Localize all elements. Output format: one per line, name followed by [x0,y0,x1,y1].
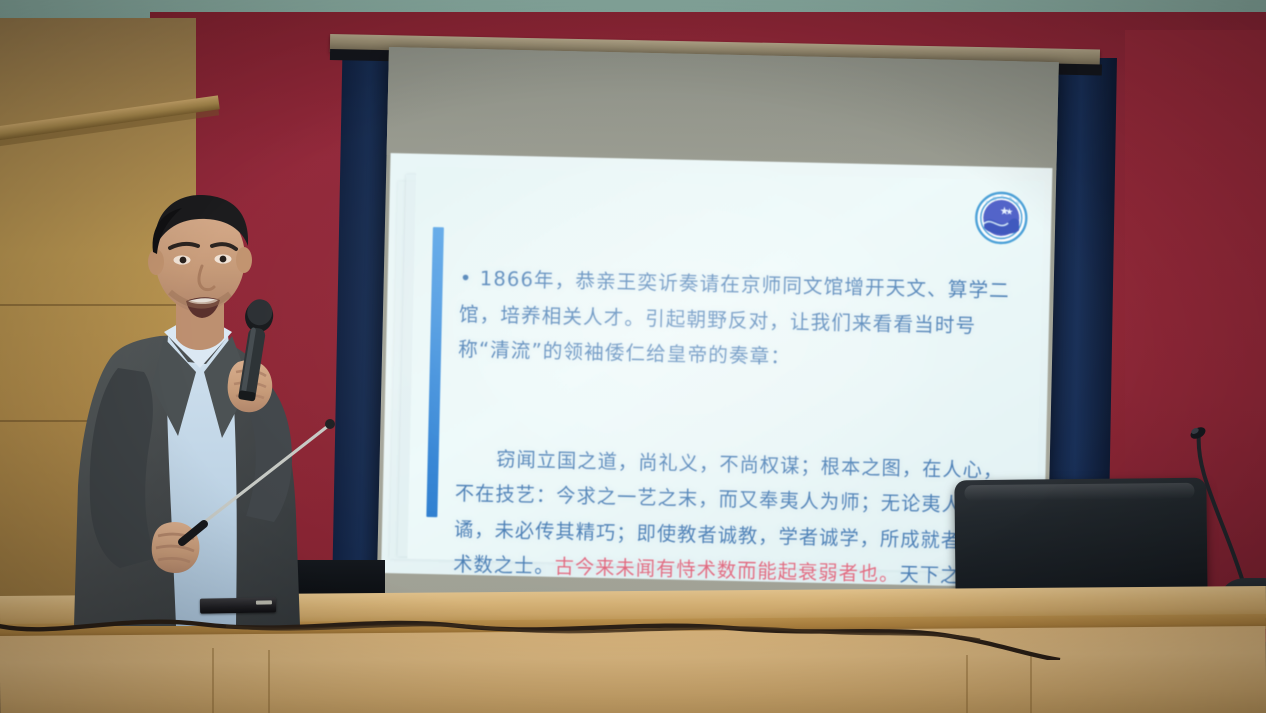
desk-panel-seam [1030,656,1032,713]
svg-text:象: 象 [1009,196,1013,201]
desk-panel-seam [212,648,214,713]
slide-bullet-glyph: • [460,267,473,290]
desk-panel-seam [966,655,968,713]
podium-desk-front [0,626,1266,713]
svg-text:气: 气 [1001,195,1005,200]
slide-bullet-paragraph: 1866年，恭亲王奕䜣奏请在京师同文馆增开天文、算学二馆，培养相关人才。引起朝野… [458,267,1010,368]
slide-content-card: 中国气 象局 • 1866年，恭亲王奕䜣奏请在京师同文馆增开天文、算学二馆，培养… [407,167,1044,573]
slide-text-block: • 1866年，恭亲王奕䜣奏请在京师同文馆增开天文、算学二馆，培养相关人才。引起… [450,190,1022,588]
slide-accent-bar [426,227,444,517]
svg-text:国: 国 [993,196,997,201]
lecture-hall-photo: 中国气 象局 • 1866年，恭亲王奕䜣奏请在京师同文馆增开天文、算学二馆，培养… [0,0,1266,713]
screen-unlit-area [387,47,1059,170]
desk-panel-seam [268,650,270,713]
projected-slide: 中国气 象局 • 1866年，恭亲王奕䜣奏请在京师同文馆增开天文、算学二馆，培养… [381,153,1052,588]
speaker-person [60,186,370,626]
remote-control-device[interactable] [200,597,276,613]
